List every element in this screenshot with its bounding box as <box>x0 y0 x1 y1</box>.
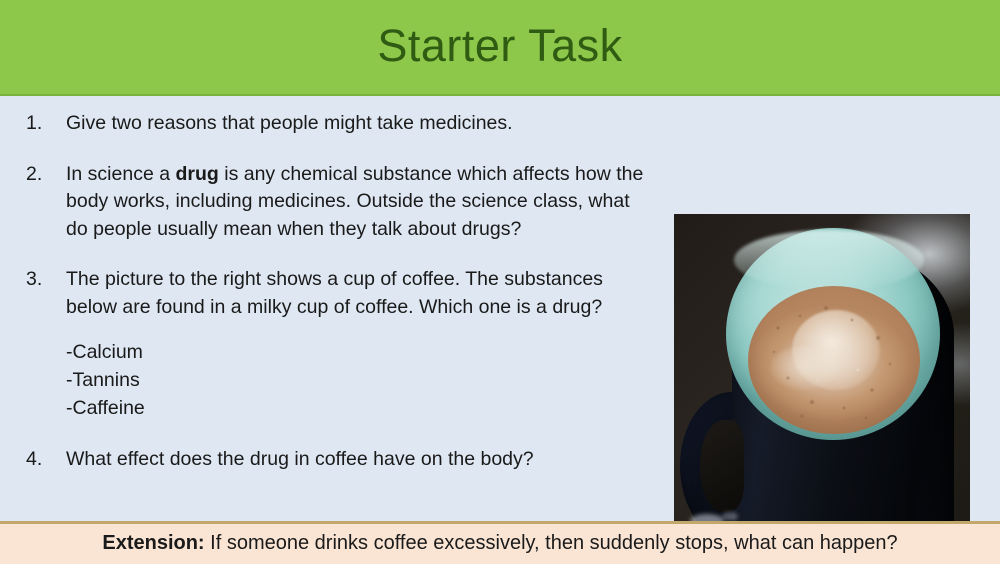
mug-rim-highlight <box>734 230 924 290</box>
coffee-bubbles <box>748 286 920 434</box>
question-number: 4. <box>26 446 66 474</box>
question-number: 1. <box>26 110 66 138</box>
question-bold-term: drug <box>175 163 218 185</box>
question-text: Give two reasons that people might take … <box>66 110 656 138</box>
mug-handle-opening <box>700 420 744 512</box>
extension-bar: Extension: If someone drinks coffee exce… <box>0 521 1000 564</box>
slide-header: Starter Task <box>0 0 1000 96</box>
extension-question: If someone drinks coffee excessively, th… <box>205 532 898 554</box>
question-text: What effect does the drug in coffee have… <box>66 446 656 474</box>
substance-item: -Caffeine <box>66 394 656 422</box>
slide: Starter Task 1. Give two reasons that pe… <box>0 0 1000 564</box>
slide-body: 1. Give two reasons that people might ta… <box>0 96 1000 521</box>
substance-item: -Calcium <box>66 338 656 366</box>
extension-text: Extension: If someone drinks coffee exce… <box>102 533 897 555</box>
page-title: Starter Task <box>377 23 622 72</box>
list-item: 4. What effect does the drug in coffee h… <box>26 446 656 474</box>
extension-label: Extension: <box>102 532 204 554</box>
question-number: 3. <box>26 266 66 294</box>
question-number: 2. <box>26 161 66 189</box>
question-text: The picture to the right shows a cup of … <box>66 266 656 321</box>
coffee-mug-photo <box>674 214 970 564</box>
handle-highlight-secondary <box>722 512 738 521</box>
question-text-part: What effect does the drug in coffee have… <box>66 448 534 470</box>
list-item: 1. Give two reasons that people might ta… <box>26 110 656 138</box>
question-text-part: The picture to the right shows a cup of … <box>66 268 603 318</box>
substance-item: -Tannins <box>66 366 656 394</box>
question-text-part: Give two reasons that people might take … <box>66 112 513 134</box>
question-text-part: In science a <box>66 163 175 185</box>
question-list: 1. Give two reasons that people might ta… <box>26 110 656 497</box>
substance-list: -Calcium -Tannins -Caffeine <box>66 338 656 422</box>
list-item: 3. The picture to the right shows a cup … <box>26 266 656 321</box>
list-item: 2. In science a drug is any chemical sub… <box>26 161 656 244</box>
question-text: In science a drug is any chemical substa… <box>66 161 656 244</box>
